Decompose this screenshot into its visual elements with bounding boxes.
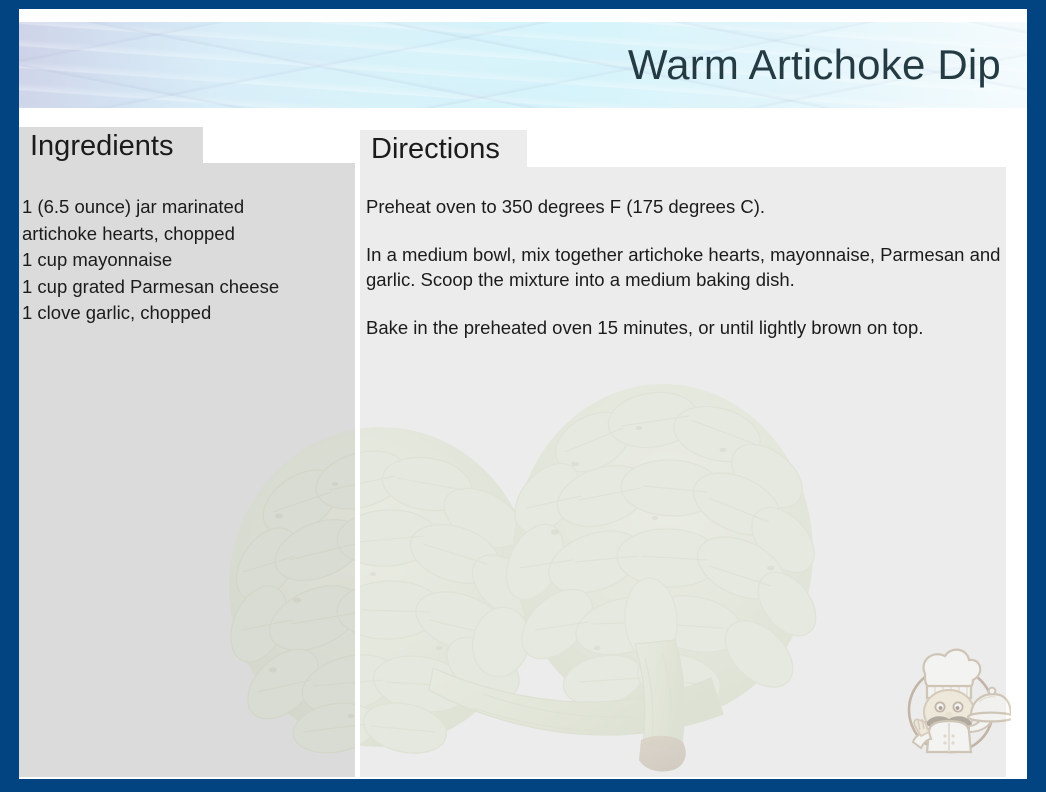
ingredients-list: 1 (6.5 ounce) jar marinated artichoke he… bbox=[22, 194, 342, 327]
directions-heading: Directions bbox=[360, 133, 500, 166]
directions-steps: Preheat oven to 350 degrees F (175 degre… bbox=[366, 194, 1014, 340]
list-item: 1 clove garlic, chopped bbox=[22, 300, 342, 327]
directions-section-tab: Directions bbox=[360, 130, 527, 169]
recipe-slide: Warm Artichoke Dip bbox=[0, 0, 1046, 792]
direction-step: Bake in the preheated oven 15 minutes, o… bbox=[366, 315, 1014, 341]
direction-step: Preheat oven to 350 degrees F (175 degre… bbox=[366, 194, 1014, 220]
ingredients-heading: Ingredients bbox=[19, 130, 174, 163]
chef-mascot-logo bbox=[899, 644, 1011, 758]
list-item: 1 cup mayonnaise bbox=[22, 247, 342, 274]
page-title: Warm Artichoke Dip bbox=[628, 41, 1001, 89]
list-item: 1 (6.5 ounce) jar marinated artichoke he… bbox=[22, 194, 342, 247]
ingredients-section-tab: Ingredients bbox=[19, 127, 203, 165]
panel-divider-seam bbox=[355, 163, 360, 777]
direction-step: In a medium bowl, mix together artichoke… bbox=[366, 242, 1014, 293]
header-banner: Warm Artichoke Dip bbox=[19, 22, 1027, 108]
list-item: 1 cup grated Parmesan cheese bbox=[22, 274, 342, 301]
